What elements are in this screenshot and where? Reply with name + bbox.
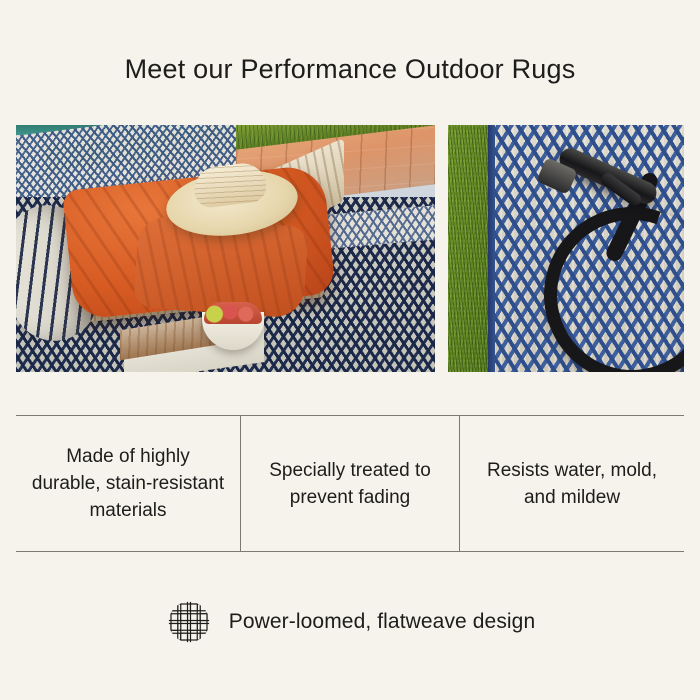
feature-text: Resists water, mold, and mildew xyxy=(474,457,670,511)
rug-binding-edge xyxy=(488,125,495,372)
rug-detail-hose-photo xyxy=(448,125,684,372)
lawn-edge xyxy=(448,125,492,372)
feature-durable-materials: Made of highly durable, stain-resistant … xyxy=(16,416,240,551)
page-title: Meet our Performance Outdoor Rugs xyxy=(0,52,700,86)
feature-text: Made of highly durable, stain-resistant … xyxy=(30,443,226,524)
footer-text: Power-loomed, flatweave design xyxy=(229,608,536,636)
footer-callout: Power-loomed, flatweave design xyxy=(0,598,700,646)
feature-list: Made of highly durable, stain-resistant … xyxy=(16,415,684,552)
feature-text: Specially treated to prevent fading xyxy=(255,457,445,511)
gallery xyxy=(16,125,684,372)
feature-water-mold-mildew-resistant: Resists water, mold, and mildew xyxy=(460,416,684,551)
weave-pattern-icon xyxy=(165,598,213,646)
fruit xyxy=(204,302,262,324)
feature-fade-resistant: Specially treated to prevent fading xyxy=(240,416,460,551)
poolside-lounge-photo xyxy=(16,125,435,372)
